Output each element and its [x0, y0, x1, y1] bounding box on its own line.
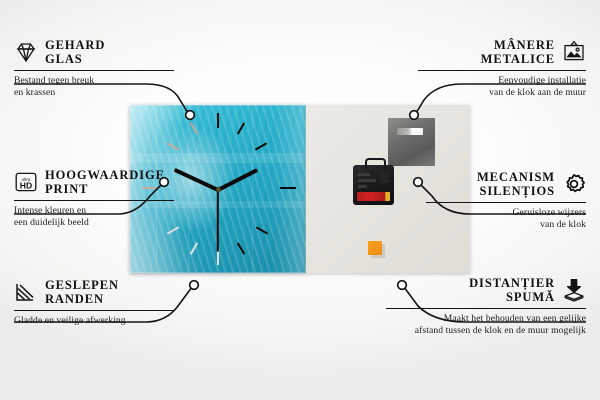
feature-subtitle: Bestand tegen breuk en krassen: [14, 75, 174, 98]
feature-title: DISTANȚIER SPUMĂ: [469, 276, 555, 304]
feature-manere-metalice: MÂNERE METALICE Eenvoudige installatie v…: [418, 38, 586, 98]
beveled-edges-icon: [14, 280, 38, 304]
feature-header: ultra HD HOOGWAARDIGE PRINT: [14, 168, 174, 196]
hour-tick-10: [167, 142, 179, 150]
feature-title: GESLEPEN RANDEN: [45, 278, 119, 306]
feature-subtitle: Geruisloze wijzers van de klok: [426, 207, 586, 230]
hour-tick-11: [190, 122, 198, 134]
feature-gehard-glas: GEHARD GLAS Bestand tegen breuk en krass…: [14, 38, 174, 98]
feature-subtitle: Eenvoudige installatie van de klok aan d…: [418, 75, 586, 98]
mechanism-detail: [358, 173, 370, 176]
infographic-canvas: GEHARD GLAS Bestand tegen breuk en krass…: [0, 0, 600, 400]
mechanism-detail: [358, 179, 376, 182]
clock-mechanism: [353, 165, 394, 205]
second-hand: [217, 190, 219, 252]
feature-header: DISTANȚIER SPUMĂ: [386, 276, 586, 304]
feature-geslepen-randen: GESLEPEN RANDEN Gladde en veilige afwerk…: [14, 278, 174, 327]
foam-spacer: [368, 241, 382, 255]
feature-title: GEHARD GLAS: [45, 38, 105, 66]
glass-seam: [188, 105, 189, 273]
feature-header: MÂNERE METALICE: [418, 38, 586, 66]
battery: [357, 192, 390, 201]
hand-cap: [216, 187, 221, 192]
feature-title: MECANISM SILENȚIOS: [477, 170, 555, 198]
mechanism-detail: [380, 171, 389, 183]
svg-text:HD: HD: [20, 181, 32, 191]
hour-tick-4: [256, 226, 268, 234]
feature-subtitle: Gladde en veilige afwerking: [14, 315, 174, 327]
wall-hanging-frame-icon: [562, 40, 586, 64]
hour-tick-3: [280, 187, 296, 189]
mechanism-hook: [365, 158, 386, 169]
feature-hoogwaardige-print: ultra HD HOOGWAARDIGE PRINT Intense kleu…: [14, 168, 174, 228]
hour-tick-6: [217, 250, 219, 265]
feature-header: GESLEPEN RANDEN: [14, 278, 174, 306]
divider: [426, 202, 586, 203]
feature-title: HOOGWAARDIGE PRINT: [45, 168, 165, 196]
hour-tick-12: [217, 113, 219, 128]
foam-spacer-arrow-icon: [562, 278, 586, 302]
product-photo: [130, 105, 470, 273]
divider: [14, 310, 174, 311]
feature-header: MECANISM SILENȚIOS: [426, 170, 586, 198]
feature-mecanism-silentios: MECANISM SILENȚIOS Geruisloze wijzers va…: [426, 170, 586, 230]
hour-tick-2: [255, 142, 267, 150]
feature-header: GEHARD GLAS: [14, 38, 174, 66]
feature-title: MÂNERE METALICE: [481, 38, 555, 66]
divider: [386, 308, 586, 309]
divider: [418, 70, 586, 71]
feature-distantier-spuma: DISTANȚIER SPUMĂ Maakt het behouden van …: [386, 276, 586, 336]
ultra-hd-icon: ultra HD: [14, 170, 38, 194]
hanger-slot: [397, 128, 423, 135]
hour-tick-5: [237, 242, 245, 254]
gear-icon: [562, 172, 586, 196]
metal-hanger-plate: [388, 118, 435, 166]
mechanism-detail: [358, 185, 367, 188]
endpoint-dot: [190, 281, 199, 290]
minute-hand: [174, 168, 219, 192]
divider: [14, 200, 174, 201]
feature-subtitle: Intense kleuren en een duidelijk beeld: [14, 205, 174, 228]
divider: [14, 70, 174, 71]
hour-tick-1: [237, 122, 245, 134]
feature-subtitle: Maakt het behouden van een gelijke afsta…: [386, 313, 586, 336]
glass-seam: [252, 105, 253, 273]
diamond-icon: [14, 40, 38, 64]
hour-tick-7: [190, 242, 198, 254]
